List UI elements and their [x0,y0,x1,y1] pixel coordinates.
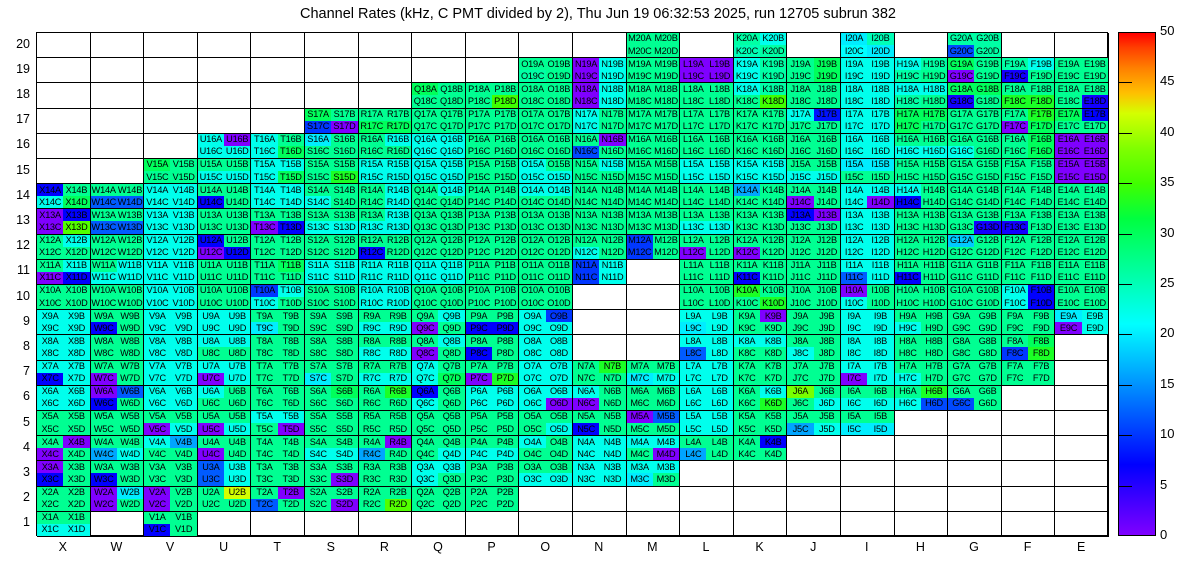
channel-L15D: L15D [706,171,732,183]
channel-I11C: I11C [841,272,867,284]
channel-L4C: L4C [680,448,706,460]
grid-cell-P18: P18AP18BP18CP18D [466,83,520,108]
channel-U2D: U2D [224,499,250,511]
grid-cell-I17: I17AI17BI17CI17D [841,109,895,134]
channel-L9D: L9D [706,322,732,334]
grid-cell-T5: T5AT5BT5CT5D [251,411,305,436]
grid-cell-L19: L19AL19BL19CL19D [680,58,734,83]
channel-K16A: K16A [734,134,760,146]
grid-cell-T2: T2AT2BT2CT2D [251,487,305,512]
y-axis-tick-4: 4 [0,440,30,454]
grid-cell-S3: S3AS3BS3CS3D [305,461,359,486]
grid-cell-F20 [1002,33,1056,58]
channel-F7B: F7B [1028,361,1054,373]
channel-Q2C: Q2C [412,499,438,511]
channel-N15A: N15A [573,159,599,171]
channel-K12C: K12C [734,247,760,259]
channel-G17C: G17C [948,121,974,133]
channel-P10C: P10C [466,297,492,309]
grid-cell-O16: O16AO16BO16CO16D [519,134,573,159]
channel-P11A: P11A [466,260,492,272]
channel-O19D: O19D [546,70,572,82]
grid-cell-K18: K18AK18BK18CK18D [734,83,788,108]
grid-cell-W17 [91,109,145,134]
channel-L15A: L15A [680,159,706,171]
channel-X4C: X4C [37,448,63,460]
channel-T9D: T9D [278,322,304,334]
grid-cell-X20 [37,33,91,58]
channel-O9A: O9A [519,310,545,322]
channel-O9C: O9C [519,322,545,334]
channel-U10D: U10D [224,297,250,309]
channel-R5A: R5A [359,411,385,423]
channel-O8D: O8D [546,347,572,359]
channel-J11C: J11C [787,272,813,284]
channel-J13C: J13C [787,221,813,233]
channel-F12C: F12C [1002,247,1028,259]
channel-M14B: M14B [653,184,679,196]
channel-E15C: E15C [1055,171,1081,183]
grid-cell-G2 [948,487,1002,512]
channel-S3B: S3B [331,461,357,473]
grid-cell-S17: S17AS17BS17CS17D [305,109,359,134]
channel-R6D: R6D [385,398,411,410]
channel-R8D: R8D [385,347,411,359]
grid-cell-E17: E17AE17BE17CE17D [1055,109,1109,134]
grid-cell-U5: U5AU5BU5CU5D [198,411,252,436]
channel-I9D: I9D [867,322,893,334]
channel-M17C: M17C [627,121,653,133]
channel-K10A: K10A [734,285,760,297]
channel-I15D: I15D [867,171,893,183]
channel-O4D: O4D [546,448,572,460]
channel-O7A: O7A [519,361,545,373]
channel-L9C: L9C [680,322,706,334]
grid-cell-J16: J16AJ16BJ16CJ16D [787,134,841,159]
grid-cell-T9: T9AT9BT9CT9D [251,310,305,335]
grid-cell-E2 [1055,487,1109,512]
channel-V14B: V14B [170,184,196,196]
channel-N19D: N19D [599,70,625,82]
channel-T8B: T8B [278,335,304,347]
channel-U14B: U14B [224,184,250,196]
channel-X3A: X3A [37,461,63,473]
channel-J17A: J17A [787,109,813,121]
channel-J19B: J19B [814,58,840,70]
grid-cell-Q20 [412,33,466,58]
channel-W6D: W6D [117,398,143,410]
channel-O19B: O19B [546,58,572,70]
channel-H6C: H6C [895,398,921,410]
grid-cell-K7: K7AK7BK7CK7D [734,361,788,386]
grid-cell-I20: I20AI20BI20CI20D [841,33,895,58]
grid-cell-F13: F13AF13BF13CF13D [1002,209,1056,234]
channel-N16C: N16C [573,146,599,158]
channel-N7C: N7C [573,373,599,385]
grid-cell-X10: X10AX10BX10CX10D [37,285,91,310]
grid-cell-H16: H16AH16BH16CH16D [895,134,949,159]
channel-U14C: U14C [198,196,224,208]
channel-K9D: K9D [760,322,786,334]
channel-rates-plot: Channel Rates (kHz, C PMT divided by 2),… [0,0,1196,572]
grid-cell-S18 [305,83,359,108]
channel-X4A: X4A [37,436,63,448]
channel-K5C: K5C [734,423,760,435]
grid-cell-K17: K17AK17BK17CK17D [734,109,788,134]
channel-N3D: N3D [599,473,625,485]
channel-I14A: I14A [841,184,867,196]
grid-cell-I5: I5AI5BI5CI5D [841,411,895,436]
channel-M16C: M16C [627,146,653,158]
channel-W14C: W14C [91,196,117,208]
grid-cell-V5: V5AV5BV5CV5D [144,411,198,436]
channel-Q12B: Q12B [438,235,464,247]
channel-N18C: N18C [573,95,599,107]
channel-H11A: H11A [895,260,921,272]
channel-K15B: K15B [760,159,786,171]
grid-cell-Q11: Q11AQ11BQ11CQ11D [412,260,466,285]
grid-cell-T15: T15AT15BT15CT15D [251,159,305,184]
grid-cell-W16 [91,134,145,159]
channel-V8A: V8A [144,335,170,347]
channel-F8A: F8A [1002,335,1028,347]
channel-O15B: O15B [546,159,572,171]
channel-M14D: M14D [653,196,679,208]
channel-L18B: L18B [706,83,732,95]
channel-I8B: I8B [867,335,893,347]
grid-cell-M4: M4AM4BM4CM4D [627,436,681,461]
channel-R11B: R11B [385,260,411,272]
channel-L10C: L10C [680,297,706,309]
channel-P15C: P15C [466,171,492,183]
channel-M18B: M18B [653,83,679,95]
channel-I19D: I19D [867,70,893,82]
channel-E16A: E16A [1055,134,1081,146]
channel-L11A: L11A [680,260,706,272]
channel-T3B: T3B [278,461,304,473]
channel-S11D: S11D [331,272,357,284]
channel-S4A: S4A [305,436,331,448]
colorbar-tick-10 [1118,435,1132,436]
grid-cell-R1 [359,512,413,537]
grid-cell-Q4: Q4AQ4BQ4CQ4D [412,436,466,461]
channel-V12B: V12B [170,235,196,247]
channel-H7B: H7B [921,361,947,373]
channel-Q14C: Q14C [412,196,438,208]
channel-G12B: G12B [974,235,1000,247]
colorbar-label-50: 50 [1160,23,1174,38]
grid-cell-M19: M19AM19BM19CM19D [627,58,681,83]
x-axis-tick-M: M [625,540,679,554]
channel-X3C: X3C [37,473,63,485]
channel-G18A: G18A [948,83,974,95]
channel-L19A: L19A [680,58,706,70]
grid-cell-N6: N6AN6BN6CN6D [573,386,627,411]
channel-Q8C: Q8C [412,347,438,359]
channel-W4C: W4C [91,448,117,460]
colorbar-tick-45 [1118,82,1132,83]
grid-cell-K15: K15AK15BK15CK15D [734,159,788,184]
channel-Q16B: Q16B [438,134,464,146]
channel-K13A: K13A [734,209,760,221]
grid-cell-F19: F19AF19BF19CF19D [1002,58,1056,83]
grid-cell-L17: L17AL17BL17CL17D [680,109,734,134]
channel-K17B: K17B [760,109,786,121]
channel-J16C: J16C [787,146,813,158]
channel-F11A: F11A [1002,260,1028,272]
channel-W12D: W12D [117,247,143,259]
grid-cell-W14: W14AW14BW14CW14D [91,184,145,209]
channel-N14D: N14D [599,196,625,208]
channel-G16D: G16D [974,146,1000,158]
grid-cell-I18: I18AI18BI18CI18D [841,83,895,108]
channel-S12D: S12D [331,247,357,259]
channel-F9C: F9C [1002,322,1028,334]
grid-cell-L12: L12AL12BL12CL12D [680,235,734,260]
channel-G11A: G11A [948,260,974,272]
channel-N3A: N3A [573,461,599,473]
grid-cell-Q12: Q12AQ12BQ12CQ12D [412,235,466,260]
channel-X8B: X8B [63,335,89,347]
grid-cell-G6: G6AG6BG6CG6D [948,386,1002,411]
channel-Q9D: Q9D [438,322,464,334]
channel-Q15B: Q15B [438,159,464,171]
grid-cell-N2 [573,487,627,512]
channel-R13D: R13D [385,221,411,233]
channel-W9A: W9A [91,310,117,322]
channel-U9D: U9D [224,322,250,334]
channel-F9B: F9B [1028,310,1054,322]
grid-cell-T14: T14AT14BT14CT14D [251,184,305,209]
channel-T16B: T16B [278,134,304,146]
grid-cell-V13: V13AV13BV13CV13D [144,209,198,234]
channel-Q4D: Q4D [438,448,464,460]
channel-O14D: O14D [546,196,572,208]
grid-cell-G15: G15AG15BG15CG15D [948,159,1002,184]
channel-W3C: W3C [91,473,117,485]
channel-G10C: G10C [948,297,974,309]
channel-I18A: I18A [841,83,867,95]
channel-K17A: K17A [734,109,760,121]
channel-K6D: K6D [760,398,786,410]
x-axis-tick-H: H [893,540,947,554]
grid-cell-I2 [841,487,895,512]
grid-cell-T11: T11AT11BT11CT11D [251,260,305,285]
channel-T15C: T15C [251,171,277,183]
channel-S2C: S2C [305,499,331,511]
channel-K18A: K18A [734,83,760,95]
channel-G7A: G7A [948,361,974,373]
channel-I18C: I18C [841,95,867,107]
grid-cell-E15: E15AE15BE15CE15D [1055,159,1109,184]
channel-S7A: S7A [305,361,331,373]
grid-cell-G1 [948,512,1002,537]
channel-O8C: O8C [519,347,545,359]
x-axis-tick-Q: Q [411,540,465,554]
channel-W8D: W8D [117,347,143,359]
channel-N11B: N11B [599,260,625,272]
channel-J15D: J15D [814,171,840,183]
channel-L5A: L5A [680,411,706,423]
channel-R14C: R14C [359,196,385,208]
channel-J17C: J17C [787,121,813,133]
channel-V5B: V5B [170,411,196,423]
y-axis-tick-20: 20 [0,37,30,51]
channel-H8B: H8B [921,335,947,347]
channel-W11C: W11C [91,272,117,284]
channel-I10B: I10B [867,285,893,297]
channel-W11B: W11B [117,260,143,272]
channel-Q7A: Q7A [412,361,438,373]
channel-G14A: G14A [948,184,974,196]
grid-cell-J13: J13AJ13BJ13CJ13D [787,209,841,234]
grid-cell-N11: N11AN11BN11CN11D [573,260,627,285]
channel-E11B: E11B [1082,260,1108,272]
channel-K10B: K10B [760,285,786,297]
channel-L10D: L10D [706,297,732,309]
channel-J18D: J18D [814,95,840,107]
y-axis-tick-19: 19 [0,62,30,76]
channel-N19B: N19B [599,58,625,70]
channel-H14C: H14C [895,196,921,208]
channel-I6C: I6C [841,398,867,410]
channel-M16A: M16A [627,134,653,146]
channel-X7D: X7D [63,373,89,385]
channel-U13B: U13B [224,209,250,221]
channel-Q10D: Q10D [438,297,464,309]
grid-cell-N10 [573,285,627,310]
grid-cell-J17: J17AJ17BJ17CJ17D [787,109,841,134]
channel-V10C: V10C [144,297,170,309]
grid-cell-X5: X5AX5BX5CX5D [37,411,91,436]
channel-S9A: S9A [305,310,331,322]
channel-F17C: F17C [1002,121,1028,133]
x-axis-tick-U: U [197,540,251,554]
channel-R6B: R6B [385,386,411,398]
channel-J6D: J6D [814,398,840,410]
channel-M6B: M6B [653,386,679,398]
channel-L17C: L17C [680,121,706,133]
channel-J16B: J16B [814,134,840,146]
y-axis-tick-1: 1 [0,515,30,529]
grid-cell-M3: M3AM3BM3CM3D [627,461,681,486]
channel-I5A: I5A [841,411,867,423]
channel-M17A: M17A [627,109,653,121]
channel-I19C: I19C [841,70,867,82]
channel-T10D: T10D [278,297,304,309]
grid-cell-H20 [895,33,949,58]
channel-Q9B: Q9B [438,310,464,322]
channel-G13C: G13C [948,221,974,233]
channel-S6D: S6D [331,398,357,410]
grid-cell-F15: F15AF15BF15CF15D [1002,159,1056,184]
channel-K4A: K4A [734,436,760,448]
grid-cell-M18: M18AM18BM18CM18D [627,83,681,108]
channel-V5D: V5D [170,423,196,435]
channel-Q18A: Q18A [412,83,438,95]
channel-V4D: V4D [170,448,196,460]
channel-T13B: T13B [278,209,304,221]
channel-E12A: E12A [1055,235,1081,247]
channel-E10C: E10C [1055,297,1081,309]
channel-O7B: O7B [546,361,572,373]
channel-S4D: S4D [331,448,357,460]
channel-K17D: K17D [760,121,786,133]
channel-N7D: N7D [599,373,625,385]
channel-P13A: P13A [466,209,492,221]
channel-Q18C: Q18C [412,95,438,107]
channel-Q12C: Q12C [412,247,438,259]
channel-S7D: S7D [331,373,357,385]
channel-M3A: M3A [627,461,653,473]
channel-M4B: M4B [653,436,679,448]
channel-P16A: P16A [466,134,492,146]
channel-V15A: V15A [144,159,170,171]
grid-cell-S7: S7AS7BS7CS7D [305,361,359,386]
channel-R7B: R7B [385,361,411,373]
grid-cell-X3: X3AX3BX3CX3D [37,461,91,486]
channel-U6B: U6B [224,386,250,398]
channel-K19B: K19B [760,58,786,70]
grid-cell-Q18: Q18AQ18BQ18CQ18D [412,83,466,108]
channel-X2B: X2B [63,487,89,499]
channel-K18D: K18D [760,95,786,107]
channel-E9A: E9A [1055,310,1081,322]
grid-cell-H11: H11AH11BH11CH11D [895,260,949,285]
channel-Q5C: Q5C [412,423,438,435]
channel-O11B: O11B [546,260,572,272]
channel-O10C: O10C [519,297,545,309]
channel-J7A: J7A [787,361,813,373]
channel-R15A: R15A [359,159,385,171]
channel-T11B: T11B [278,260,304,272]
channel-V3D: V3D [170,473,196,485]
channel-W4A: W4A [91,436,117,448]
grid-cell-H5 [895,411,949,436]
channel-G15B: G15B [974,159,1000,171]
colorbar-tick-40 [1118,133,1132,134]
channel-K5B: K5B [760,411,786,423]
channel-J18C: J18C [787,95,813,107]
channel-T4C: T4C [251,448,277,460]
channel-E19A: E19A [1055,58,1081,70]
grid-cell-L4: L4AL4BL4CL4D [680,436,734,461]
channel-K4C: K4C [734,448,760,460]
channel-G19C: G19C [948,70,974,82]
channel-S14A: S14A [305,184,331,196]
channel-E11C: E11C [1055,272,1081,284]
channel-R10B: R10B [385,285,411,297]
channel-F12A: F12A [1002,235,1028,247]
channel-V1B: V1B [170,512,196,524]
channel-N5C: N5C [573,423,599,435]
grid-cell-K5: K5AK5BK5CK5D [734,411,788,436]
grid-cell-L18: L18AL18BL18CL18D [680,83,734,108]
channel-E13B: E13B [1082,209,1108,221]
channel-K14B: K14B [760,184,786,196]
channel-X2D: X2D [63,499,89,511]
channel-V4C: V4C [144,448,170,460]
channel-N18A: N18A [573,83,599,95]
channel-Q2B: Q2B [438,487,464,499]
channel-K20D: K20D [760,45,786,57]
channel-M4C: M4C [627,448,653,460]
channel-J15C: J15C [787,171,813,183]
channel-H11B: H11B [921,260,947,272]
channel-H8D: H8D [921,347,947,359]
channel-X12D: X12D [63,247,89,259]
grid-cell-J8: J8AJ8BJ8CJ8D [787,335,841,360]
